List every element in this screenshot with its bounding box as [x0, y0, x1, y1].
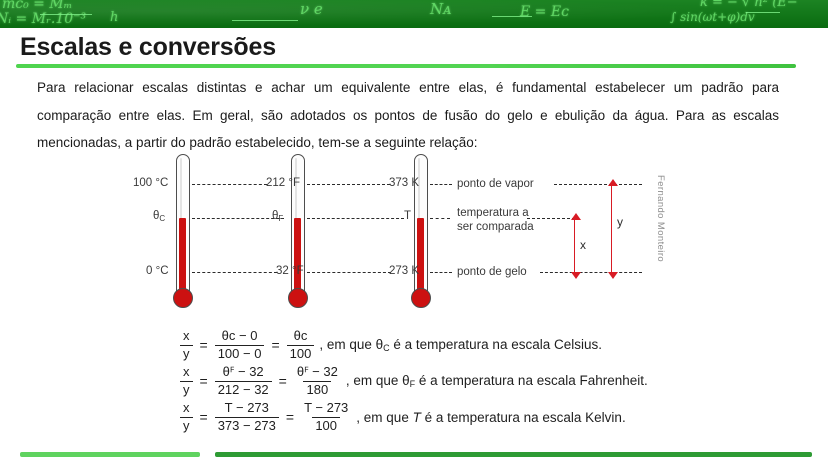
formula-list: x y = θᴄ − 0 100 − 0 = θᴄ 100 , em que θ…: [178, 327, 648, 435]
fraction-fahrenheit-simplified: θꟳ − 32 180: [294, 365, 341, 397]
dash-mid-c-f: [192, 218, 284, 219]
arrow-y-head-up: [608, 179, 618, 186]
tail-post: é a temperatura na escala Celsius.: [390, 337, 602, 352]
footer-bar-left: [20, 452, 200, 457]
equals-sign-2a: =: [200, 373, 208, 389]
intro-paragraph-text: Para relacionar escalas distintas e acha…: [37, 80, 779, 150]
thermometer-bulb-kelvin: [411, 288, 431, 308]
chalk-formula-5: E = Eᴄ: [520, 4, 569, 20]
page-title: Escalas e conversões: [20, 33, 276, 62]
equals-sign-2b: =: [279, 373, 287, 389]
label-celsius-mid: θC: [153, 210, 165, 223]
fraction-numerator: x: [180, 401, 193, 417]
fraction-denominator: 212 − 32: [215, 381, 272, 398]
chalk-fraction-bar-3: [492, 16, 532, 17]
chalk-formula-4: Nᴀ: [430, 0, 452, 18]
fraction-x-over-y-2: x y: [180, 365, 193, 397]
label-fahrenheit-top: 212 °F: [266, 177, 300, 189]
dash-ice-to-y: [540, 272, 642, 273]
dash-vapor-to-y: [554, 184, 642, 185]
fraction-celsius-simplified: θᴄ 100: [287, 329, 315, 361]
t-symbol-k: T: [404, 210, 411, 222]
fraction-kelvin-simplified: T − 273 100: [301, 401, 351, 433]
label-temperature-compared-line1: temperatura a: [457, 206, 534, 220]
title-underline-rule: [16, 64, 796, 68]
fraction-denominator: 100 − 0: [215, 345, 265, 362]
tail-symbol: θ: [376, 337, 384, 352]
fraction-numerator: x: [180, 365, 193, 381]
chalk-fraction-bar-4: [746, 12, 780, 13]
image-credit: Fernando Monteiro: [655, 175, 666, 262]
equals-sign-3a: =: [200, 409, 208, 425]
arrow-x: [574, 220, 575, 272]
arrow-x-label: x: [580, 238, 586, 252]
label-kelvin-mid: T: [404, 210, 411, 222]
dash-mid-k-lab: [430, 218, 450, 219]
tail-pre: , em que: [319, 337, 375, 352]
fraction-denominator: 373 − 273: [215, 417, 279, 434]
thermometer-diagram: 100 °C θC 0 °C 212 °F θF 32 °F 373 K T 2…: [0, 150, 700, 320]
label-ice-point: ponto de gelo: [457, 265, 527, 279]
fraction-numerator: T − 273: [301, 401, 351, 417]
fraction-numerator: θꟳ − 32: [294, 365, 341, 381]
fraction-numerator: T − 273: [222, 401, 272, 417]
tail-post: é a temperatura na escala Fahrenheit.: [415, 373, 648, 388]
footer-bar-right: [215, 452, 812, 457]
theta-subscript-f: F: [278, 214, 283, 223]
thermometer-bulb-celsius: [173, 288, 193, 308]
equals-sign-3b: =: [286, 409, 294, 425]
dash-ice-k-lab: [430, 272, 452, 273]
fraction-denominator: y: [180, 381, 193, 398]
intro-paragraph: Para relacionar escalas distintas e acha…: [37, 74, 779, 157]
equals-sign-1b: =: [271, 337, 279, 353]
dash-vapor-c-f: [192, 184, 267, 185]
fraction-denominator: y: [180, 345, 193, 362]
dash-ice-c-f: [192, 272, 277, 273]
chalk-formula-6: ∫ sin(ωt+φ)dv: [670, 10, 755, 24]
tail-symbol: T: [413, 410, 421, 425]
label-kelvin-top: 373 K: [389, 177, 419, 189]
formula-tail-celsius: , em que θC é a temperatura na escala Ce…: [319, 337, 602, 353]
chalk-fraction-bar-2: [232, 20, 298, 21]
dash-mid-f-k: [307, 218, 404, 219]
equals-sign-1a: =: [200, 337, 208, 353]
fraction-numerator: θᴄ: [291, 329, 311, 345]
fraction-numerator: θꟳ − 32: [220, 365, 267, 381]
chalk-formula-8: h: [110, 10, 118, 25]
fraction-numerator: x: [180, 329, 193, 345]
formula-row-celsius: x y = θᴄ − 0 100 − 0 = θᴄ 100 , em que θ…: [178, 327, 648, 363]
arrow-y-label: y: [617, 215, 623, 229]
fraction-denominator: 100: [287, 345, 315, 362]
arrow-x-head-up: [571, 213, 581, 220]
formula-tail-fahrenheit: , em que θF é a temperatura na escala Fa…: [346, 373, 648, 389]
fraction-x-over-y-3: x y: [180, 401, 193, 433]
chalkboard-banner: mc₀ = Mₘ Nᵢ = Mᵣ.10⁻³ ν e Nᴀ E = Eᴄ k = …: [0, 0, 828, 28]
formula-tail-kelvin: , em que T é a temperatura na escala Kel…: [356, 410, 625, 425]
chalk-fraction-bar-1: [40, 14, 92, 15]
tail-post: é a temperatura na escala Kelvin.: [421, 410, 626, 425]
chalk-formula-3: ν e: [300, 0, 323, 18]
arrow-y: [611, 186, 612, 272]
label-celsius-top: 100 °C: [133, 177, 168, 189]
fraction-x-over-y-1: x y: [180, 329, 193, 361]
formula-row-fahrenheit: x y = θꟳ − 32 212 − 32 = θꟳ − 32 180 , e…: [178, 363, 648, 399]
thermometer-bulb-fahrenheit: [288, 288, 308, 308]
tail-symbol: θ: [402, 373, 410, 388]
fraction-denominator: 100: [312, 417, 340, 434]
dash-vapor-f-k: [307, 184, 390, 185]
dash-mid-to-x: [527, 218, 575, 219]
formula-row-kelvin: x y = T − 273 373 − 273 = T − 273 100 , …: [178, 399, 648, 435]
fraction-kelvin-expanded: T − 273 373 − 273: [215, 401, 279, 433]
tail-pre: , em que: [346, 373, 402, 388]
fraction-celsius-expanded: θᴄ − 0 100 − 0: [215, 329, 265, 361]
dash-vapor-k-lab: [430, 184, 452, 185]
dash-ice-f-k: [307, 272, 391, 273]
label-fahrenheit-bottom: 32 °F: [276, 265, 304, 277]
tail-pre: , em que: [356, 410, 412, 425]
fraction-numerator: θᴄ − 0: [219, 329, 261, 345]
label-fahrenheit-mid: θF: [272, 210, 283, 223]
label-kelvin-bottom: 273 K: [389, 265, 419, 277]
label-vapor-point: ponto de vapor: [457, 177, 534, 191]
label-temperature-compared: temperatura a ser comparada: [457, 206, 534, 235]
slide-canvas: mc₀ = Mₘ Nᵢ = Mᵣ.10⁻³ ν e Nᴀ E = Eᴄ k = …: [0, 0, 828, 466]
theta-subscript-c: C: [159, 214, 165, 223]
label-celsius-bottom: 0 °C: [146, 265, 169, 277]
fraction-denominator: y: [180, 417, 193, 434]
fraction-denominator: 180: [303, 381, 331, 398]
label-temperature-compared-line2: ser comparada: [457, 220, 534, 234]
chalk-formula-7: k = − √ ħ² (E−: [700, 0, 798, 10]
arrow-y-head-down: [608, 272, 618, 279]
arrow-x-head-down: [571, 272, 581, 279]
fraction-fahrenheit-expanded: θꟳ − 32 212 − 32: [215, 365, 272, 397]
